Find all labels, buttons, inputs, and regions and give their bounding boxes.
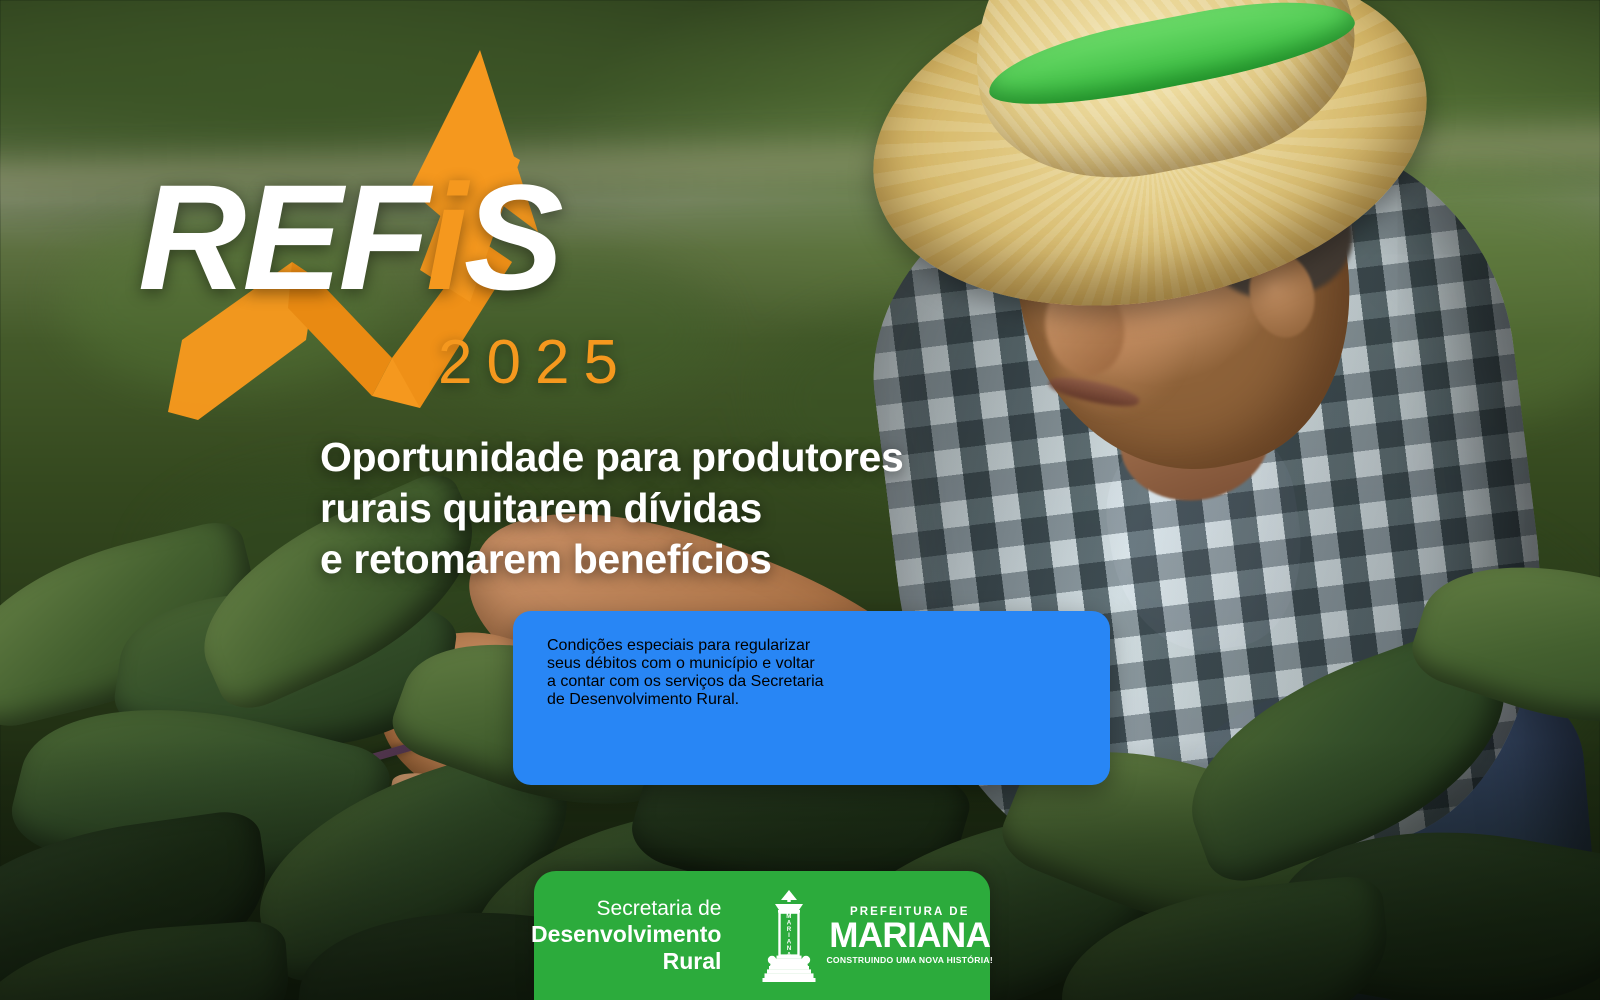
info-line-2: seus débitos com o município e voltar	[547, 655, 1080, 673]
city-name-mariana: MARIANA	[826, 920, 993, 953]
secretariat-line-1: Secretaria de	[531, 897, 721, 921]
info-callout-box: Condições especiais para regularizar seu…	[513, 611, 1110, 785]
footer-logo-bar: Secretaria de Desenvolvimento Rural	[534, 871, 990, 1000]
info-line-4: de Desenvolvimento Rural.	[547, 691, 1080, 709]
headline-line-3: e retomarem benefícios	[320, 534, 1020, 585]
refis-letter-s: S	[464, 153, 560, 321]
prefecture-wordmark: PREFEITURA DE MARIANA CONSTRUINDO UMA NO…	[826, 907, 993, 965]
secretariat-line-2: Desenvolvimento Rural	[531, 921, 721, 974]
info-line-1: Condições especiais para regularizar	[547, 637, 1080, 655]
prefecture-slogan: CONSTRUINDO UMA NOVA HISTÓRIA!	[826, 956, 993, 965]
refis-2025-promotional-banner: REFiS 2025 Oportunidade para produtores …	[0, 0, 1600, 1000]
headline-line-1: Oportunidade para produtores	[320, 432, 1020, 483]
logo-year-2025: 2025	[438, 332, 632, 394]
secretariat-lockup: Secretaria de Desenvolvimento Rural	[531, 897, 743, 975]
mariana-tower-monument-icon: M A R I A N A	[761, 888, 817, 984]
refis-letter-i: i	[426, 153, 464, 321]
refis-logo: REFiS 2025	[120, 40, 720, 420]
prefecture-logo-lockup: M A R I A N A PREFEITURA DE MARIANA CONS…	[743, 888, 993, 984]
headline-line-2: rurais quitarem dívidas	[320, 483, 1020, 534]
refis-letters-ref: REF	[138, 153, 426, 321]
info-line-3: a contar com os serviços da Secretaria	[547, 673, 1080, 691]
refis-wordmark: REFiS	[138, 162, 560, 312]
svg-text:A: A	[787, 951, 792, 958]
page-title: Oportunidade para produtores rurais quit…	[320, 432, 1020, 584]
